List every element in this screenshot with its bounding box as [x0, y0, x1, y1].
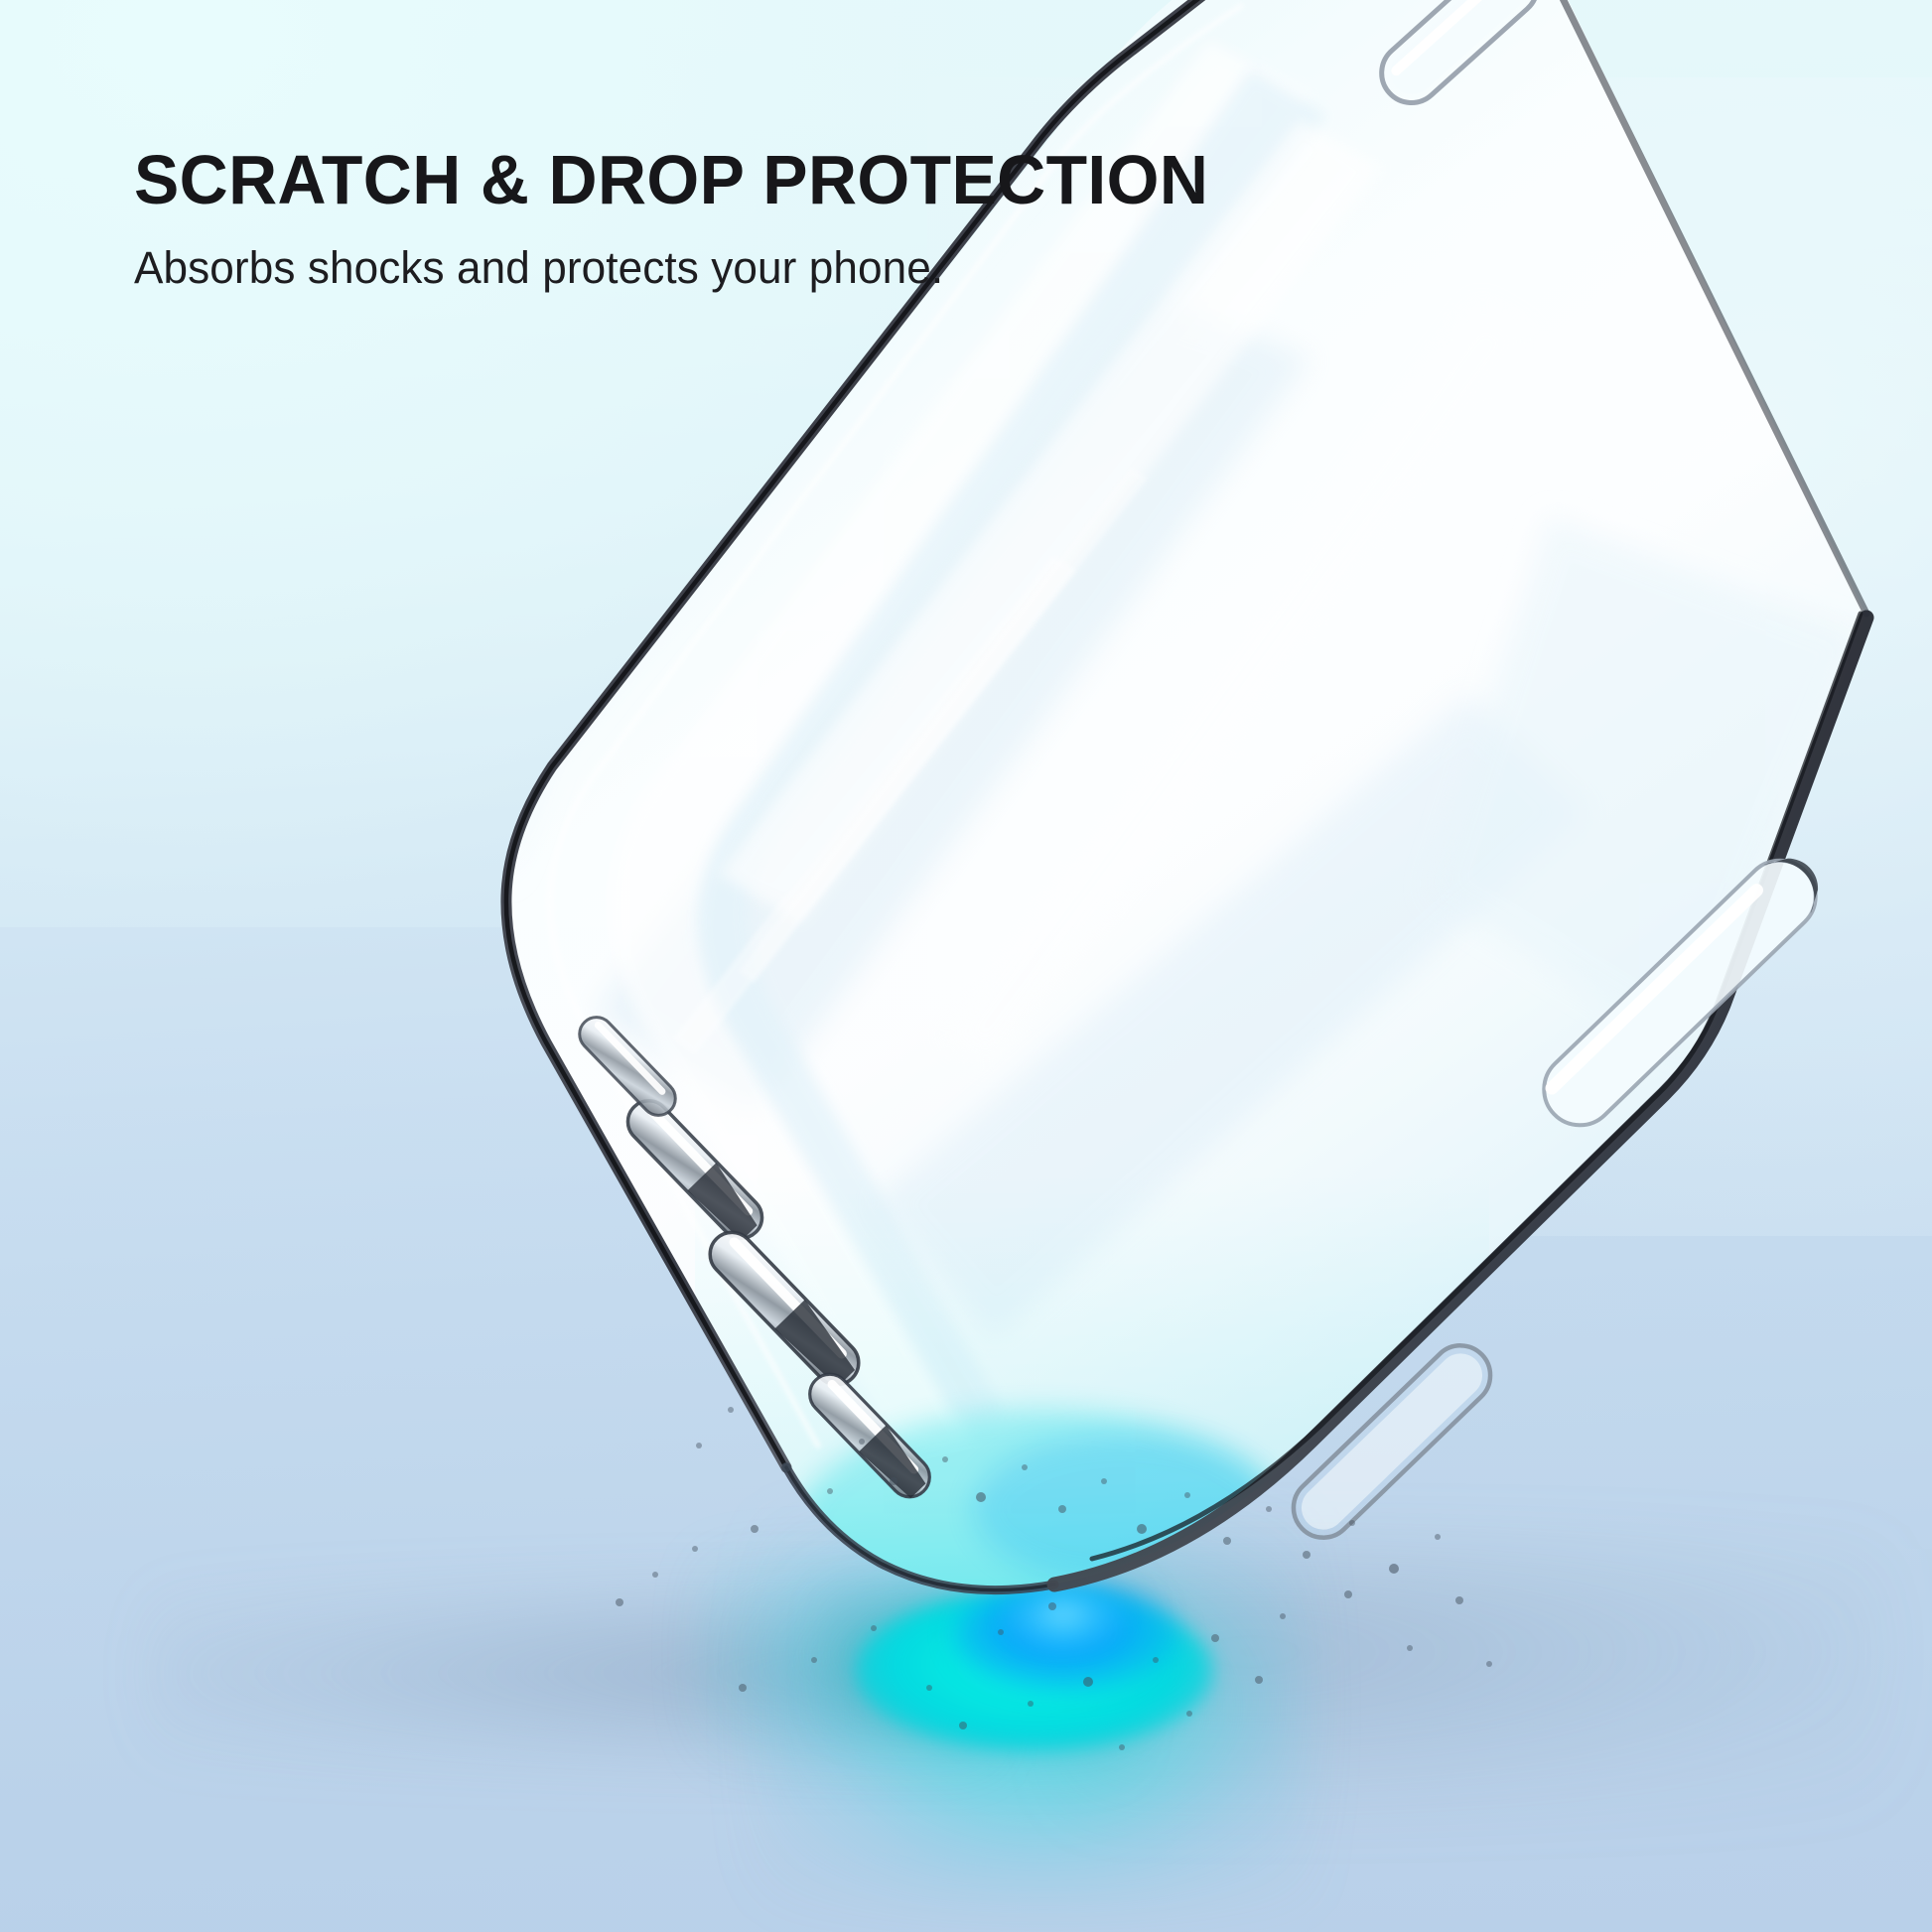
product-marketing-image: SCRATCH & DROP PROTECTION Absorbs shocks… — [0, 0, 1932, 1932]
subtitle: Absorbs shocks and protects your phone. — [134, 214, 1204, 291]
marketing-copy: SCRATCH & DROP PROTECTION Absorbs shocks… — [134, 145, 1226, 291]
page-title: SCRATCH & DROP PROTECTION — [134, 145, 1193, 214]
